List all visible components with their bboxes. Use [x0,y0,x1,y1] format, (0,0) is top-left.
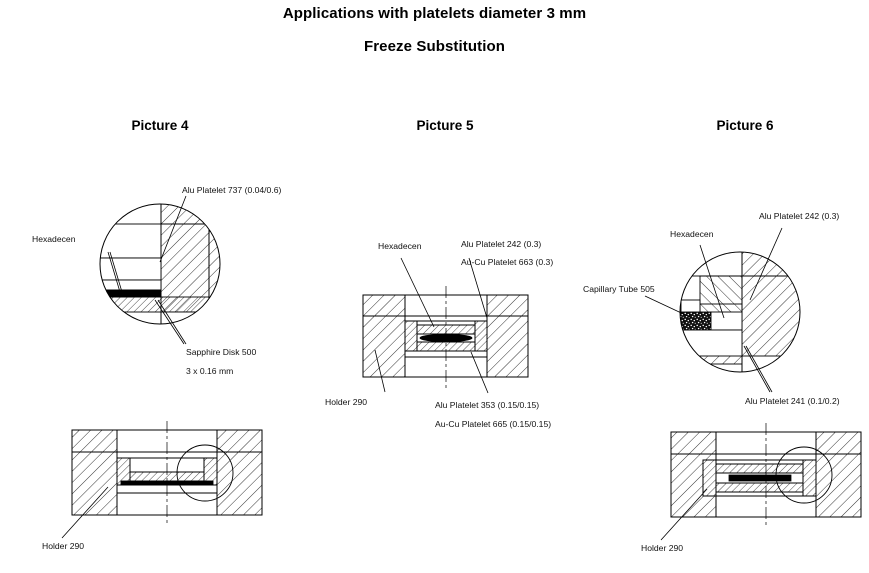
label-holder-290-p5: Holder 290 [325,396,367,409]
label-capillary-tube-505: Capillary Tube 505 [583,283,655,296]
figure-heading-picture-5: Picture 5 [365,118,525,133]
label-hexadecen-p6: Hexadecen [670,228,713,241]
label-alu-platelet-353: Alu Platelet 353 (0.15/0.15) [435,399,539,412]
drawing-sheet: Applications with platelets diameter 3 m… [0,0,869,573]
label-alu-platelet-242-p5: Alu Platelet 242 (0.3) [461,238,541,251]
label-alu-platelet-242-p6: Alu Platelet 242 (0.3) [759,210,839,223]
label-holder-290-p6: Holder 290 [641,542,683,555]
label-alu-platelet-241: Alu Platelet 241 (0.1/0.2) [745,395,840,408]
figure-picture-4 [0,0,869,573]
label-au-cu-platelet-663: Au-Cu Platelet 663 (0.3) [461,256,553,269]
label-hexadecen-p5: Hexadecen [378,240,421,253]
label-au-cu-platelet-665: Au-Cu Platelet 665 (0.15/0.15) [435,418,551,431]
figure-heading-picture-6: Picture 6 [665,118,825,133]
